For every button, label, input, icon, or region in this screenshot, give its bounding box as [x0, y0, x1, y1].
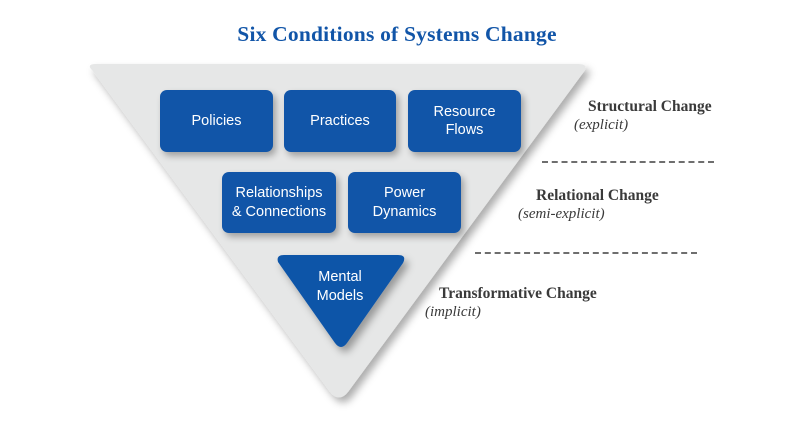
- level-transformative-subtitle: (implicit): [425, 304, 597, 321]
- level-relational-change: Relational Change (semi-explicit): [522, 187, 659, 223]
- divider-structural-relational: [542, 161, 714, 163]
- level-structural-change: Structural Change (explicit): [588, 98, 712, 134]
- divider-relational-transformative: [475, 252, 697, 254]
- level-transformative-change: Transformative Change (implicit): [425, 285, 597, 321]
- condition-box-relationships-connections[interactable]: Relationships& Connections: [222, 172, 336, 233]
- level-transformative-title: Transformative Change: [439, 285, 597, 303]
- level-structural-subtitle: (explicit): [574, 117, 712, 134]
- mental-models-triangle: [278, 255, 405, 347]
- condition-box-practices[interactable]: Practices: [284, 90, 396, 152]
- condition-box-resource-flows[interactable]: ResourceFlows: [408, 90, 521, 152]
- level-relational-title: Relational Change: [536, 187, 659, 205]
- level-relational-subtitle: (semi-explicit): [518, 206, 659, 223]
- level-structural-title: Structural Change: [588, 98, 712, 116]
- condition-shape-mental-models[interactable]: [272, 250, 417, 355]
- diagram-canvas: Six Conditions of Systems Change Policie…: [0, 0, 794, 425]
- condition-box-power-dynamics[interactable]: PowerDynamics: [348, 172, 461, 233]
- page-title: Six Conditions of Systems Change: [0, 22, 794, 47]
- condition-box-policies[interactable]: Policies: [160, 90, 273, 152]
